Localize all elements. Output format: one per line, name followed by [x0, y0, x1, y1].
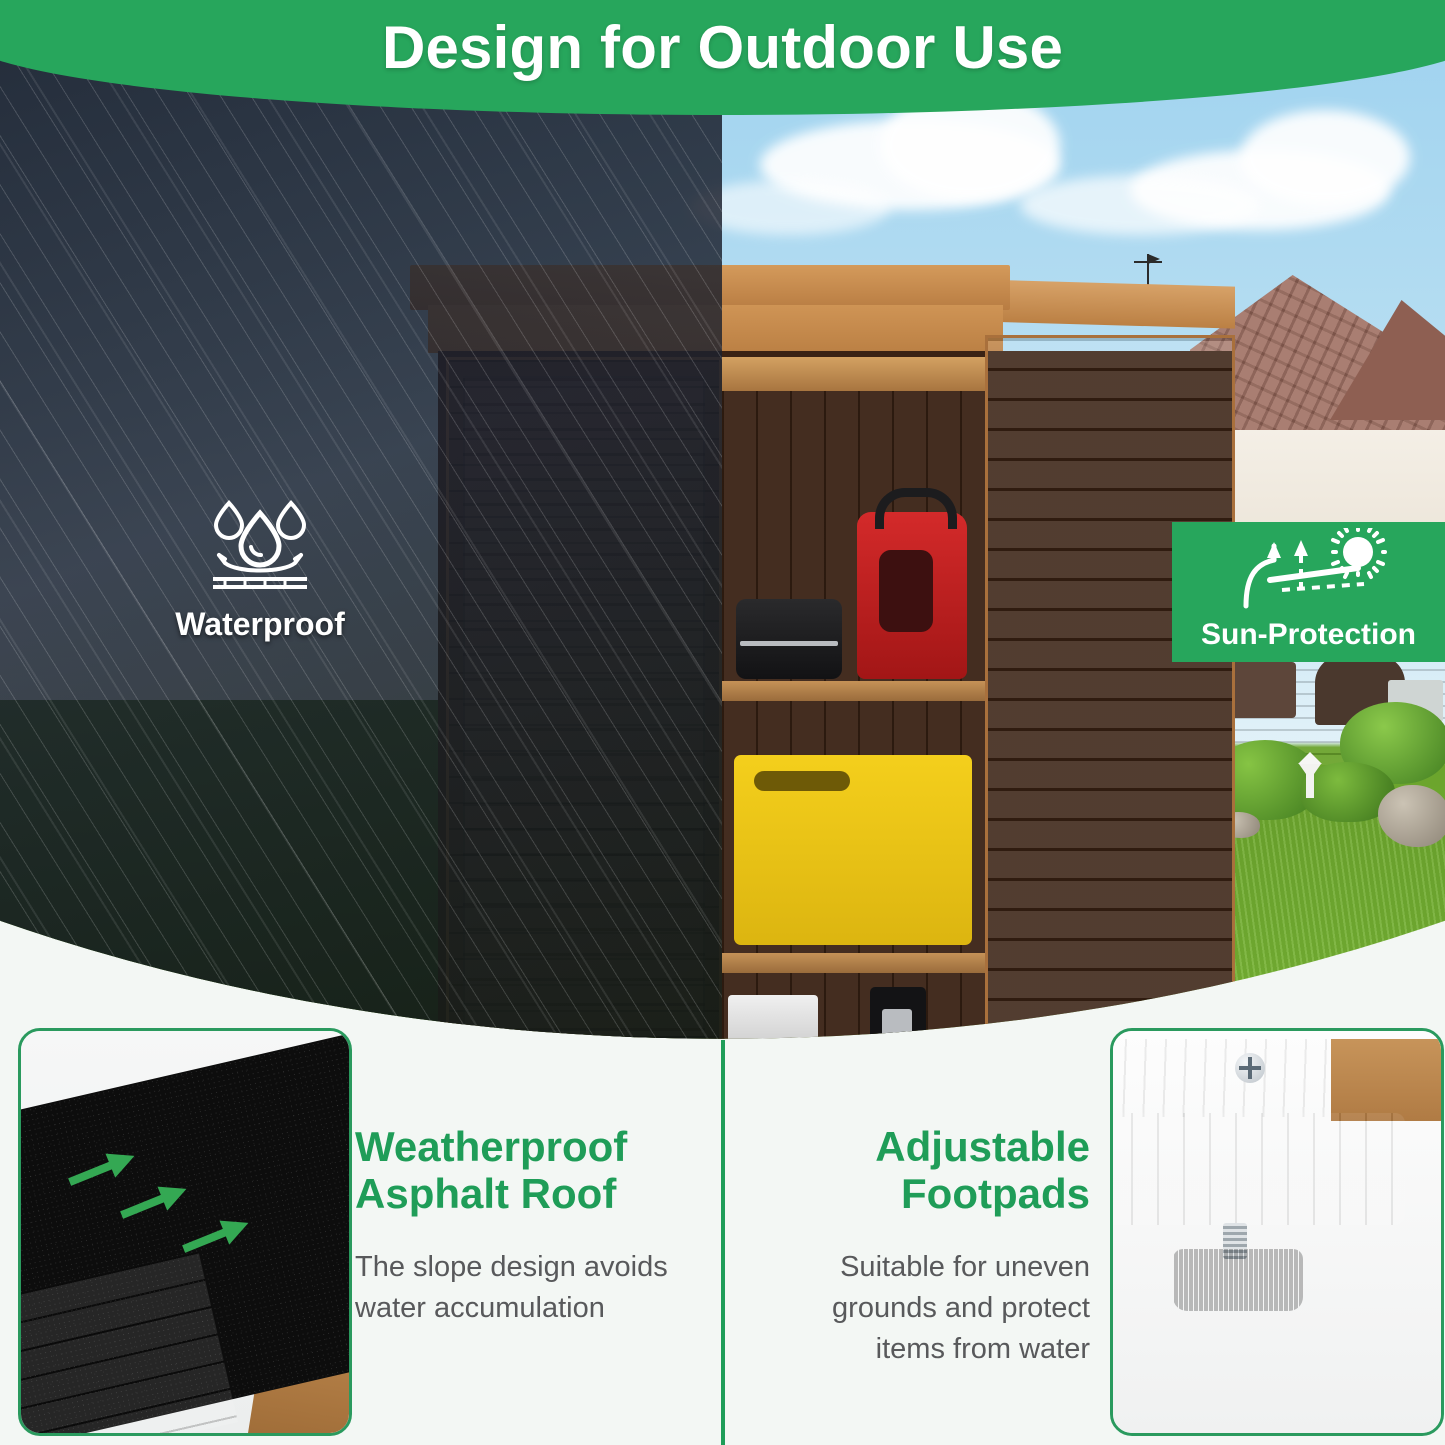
feature-body: Suitable for uneven grounds and protect …	[740, 1247, 1090, 1371]
yellow-storage-bin	[734, 755, 972, 945]
feature-title-line2: Asphalt Roof	[355, 1170, 616, 1217]
feature-divider	[721, 1040, 725, 1445]
sun-protection-badge: Sun-Protection	[1172, 522, 1445, 662]
feature-title-line1: Adjustable	[875, 1123, 1090, 1170]
waterproof-badge: Waterproof	[110, 495, 410, 643]
wood-beam-corner	[1331, 1039, 1444, 1121]
shed-shelf	[722, 953, 987, 973]
screw-icon	[1235, 1053, 1265, 1083]
shed-shelf	[722, 357, 987, 391]
feature-body-line2: grounds and protect	[832, 1292, 1090, 1324]
wood-beam-leg	[1110, 1113, 1405, 1225]
feature-title: Weatherproof Asphalt Roof	[355, 1123, 705, 1217]
page-title: Design for Outdoor Use	[0, 13, 1445, 82]
feature-title-line2: Footpads	[901, 1170, 1090, 1217]
feature-body-line3: items from water	[876, 1333, 1090, 1365]
footpad-thumbnail	[1110, 1028, 1444, 1436]
red-power-stapler	[857, 512, 967, 679]
footpad-illustration	[1113, 1031, 1441, 1433]
feature-body-line2: water accumulation	[355, 1292, 605, 1324]
feature-title: Adjustable Footpads	[740, 1123, 1090, 1217]
water-drops-repellent-icon	[195, 495, 325, 595]
sun-protection-label: Sun-Protection	[1172, 618, 1445, 652]
asphalt-roof-illustration	[21, 1031, 349, 1433]
cloud-icon	[1020, 175, 1260, 235]
feature-weatherproof-roof: Weatherproof Asphalt Roof The slope desi…	[355, 1123, 705, 1329]
garden-lantern-icon	[1295, 742, 1325, 808]
product-feature-page: Design for Outdoor Use Waterproof	[0, 0, 1445, 1445]
shed-shelf	[722, 681, 987, 701]
black-adjustable-footpad	[1173, 1249, 1303, 1311]
feature-body-line1: The slope design avoids	[355, 1251, 668, 1283]
feature-title-line1: Weatherproof	[355, 1123, 627, 1170]
shed-interior	[722, 357, 987, 1057]
sun-uv-reflect-icon	[1212, 528, 1397, 620]
black-tool-case	[736, 599, 842, 679]
feature-body-line1: Suitable for uneven	[840, 1251, 1090, 1283]
shed-roof-right-overhang	[975, 279, 1235, 328]
features-section: Weatherproof Asphalt Roof The slope desi…	[0, 1005, 1445, 1445]
hero-section: Design for Outdoor Use Waterproof	[0, 0, 1445, 1060]
shed-open-door	[985, 335, 1235, 1057]
feature-body: The slope design avoids water accumulati…	[355, 1247, 705, 1329]
waterproof-label: Waterproof	[110, 606, 410, 643]
feature-adjustable-footpads: Adjustable Footpads Suitable for uneven …	[740, 1123, 1090, 1371]
cloud-icon	[1240, 110, 1410, 205]
asphalt-roof-thumbnail	[18, 1028, 352, 1436]
